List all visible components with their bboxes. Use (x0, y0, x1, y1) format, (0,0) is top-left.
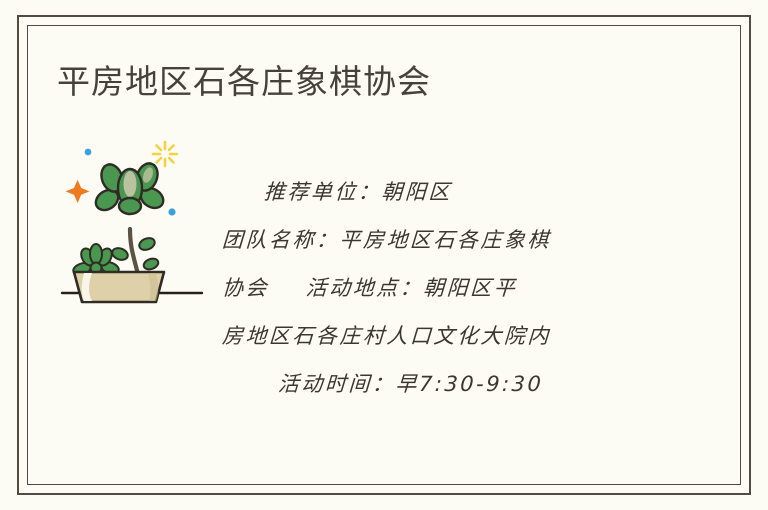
succulent-rosette-top (92, 160, 167, 214)
blue-dot-right-icon (168, 208, 175, 215)
info-line-activity-location-start: 协会 活动地点：朝阳区平 (221, 264, 654, 312)
info-line-team-name: 团队名称：平房地区石各庄象棋 (221, 216, 654, 264)
info-line-activity-time: 活动时间：早7:30-9:30 (221, 360, 654, 408)
flower-pot (74, 272, 164, 302)
info-text-block: 推荐单位：朝阳区 团队名称：平房地区石各庄象棋 协会 活动地点：朝阳区平 房地区… (222, 168, 652, 408)
info-line-recommending-unit: 推荐单位：朝阳区 (221, 168, 654, 216)
info-line-activity-location-end: 房地区石各庄村人口文化大院内 (221, 312, 654, 360)
poster-card: 平房地区石各庄象棋协会 (0, 0, 768, 510)
blue-dot-left-icon (85, 149, 92, 156)
orange-star-icon (66, 180, 90, 203)
potted-plant-illustration (52, 132, 224, 307)
page-title: 平房地区石各庄象棋协会 (57, 60, 431, 104)
yellow-starburst-icon (153, 142, 177, 166)
